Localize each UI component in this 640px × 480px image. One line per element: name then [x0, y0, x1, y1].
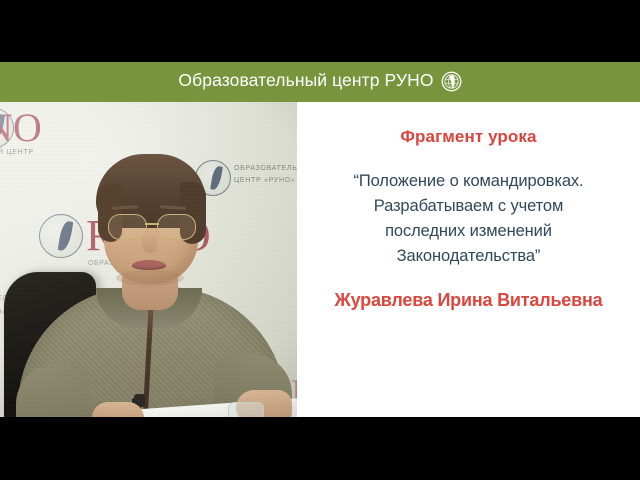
content-row: NO Й ЦЕНТР RUNO ОБРАЗОВАТЕЛЬНЫЙ ОБРАЗОВА… [0, 102, 640, 417]
presenter-chin-shadow [116, 270, 184, 286]
presenter-nose [142, 233, 157, 253]
water-glass [228, 402, 264, 417]
slide-quote-line: “Положение о командировках. [304, 169, 634, 194]
video-still-pane[interactable]: NO Й ЦЕНТР RUNO ОБРАЗОВАТЕЛЬНЫЙ ОБРАЗОВА… [0, 102, 297, 417]
slide-speaker-name: Журавлева Ирина Витальевна [297, 291, 640, 311]
video-player-frame: Образовательный центр РУНО NO Й ЦЕНТР R [0, 0, 640, 480]
slide-pane: Фрагмент урока “Положение о командировка… [297, 102, 640, 417]
eyeglass-lens-right [157, 214, 196, 240]
slide-heading: Фрагмент урока [400, 128, 536, 147]
letterbox-bottom [0, 417, 640, 480]
presenter-mouth [132, 260, 166, 270]
globe-leaf-icon [441, 71, 462, 92]
letterbox-top [0, 0, 640, 62]
presenter-hand-left [92, 402, 144, 417]
slide-quote-line: Законодательства” [304, 244, 634, 269]
slide-quote-line: последних изменений [304, 219, 634, 244]
presenter-figure [0, 102, 297, 417]
brand-header-inner: Образовательный центр РУНО [178, 71, 461, 92]
slide-quote-line: Разрабатываем с учетом [304, 194, 634, 219]
brand-header-band: Образовательный центр РУНО [0, 62, 640, 102]
brand-header-title: Образовательный центр РУНО [178, 72, 433, 90]
slide-quote: “Положение о командировках. Разрабатывае… [304, 169, 634, 269]
